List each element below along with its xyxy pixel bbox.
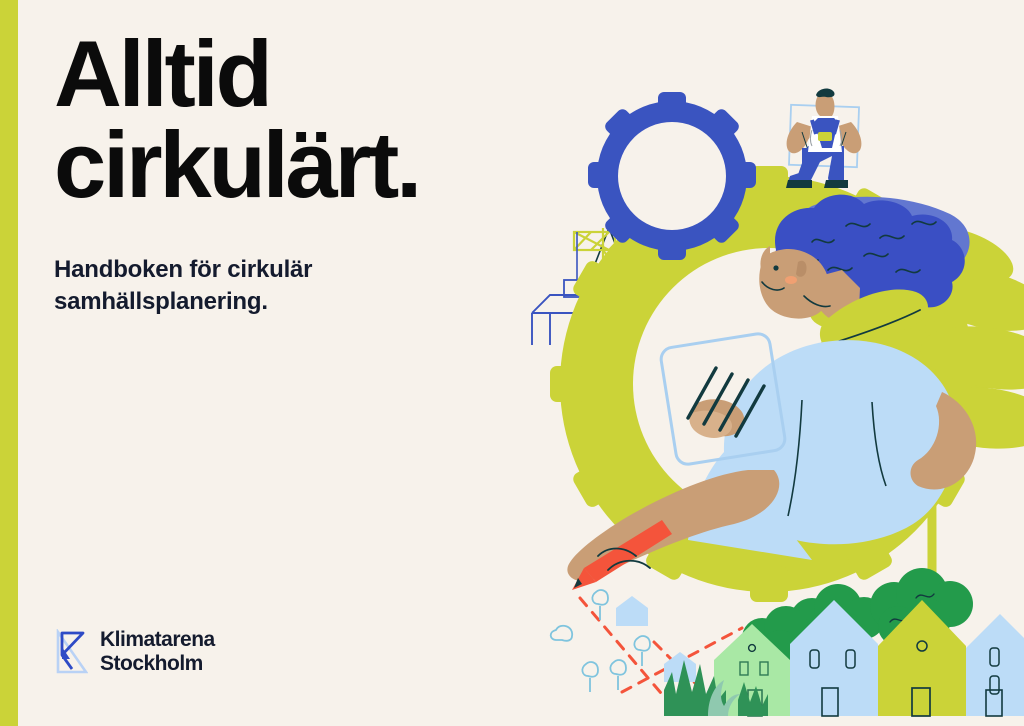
small-gear-icon <box>588 92 756 260</box>
cover-illustration <box>512 0 1024 726</box>
brand-logo: Klimatarena Stockholm <box>56 628 215 675</box>
brand-logo-wordmark: Klimatarena Stockholm <box>100 628 215 675</box>
cover-text-block: Alltid cirkulärt. Handboken för cirkulär… <box>54 28 524 318</box>
house-blue-2 <box>966 614 1024 716</box>
worker-figure <box>786 88 861 188</box>
page-title: Alltid cirkulärt. <box>54 28 524 210</box>
book-cover: Alltid cirkulärt. Handboken för cirkulär… <box>0 0 1024 726</box>
klimatarena-k-mark-icon <box>56 629 88 675</box>
accent-bar <box>0 0 18 726</box>
page-subtitle: Handboken för cirkulär samhällsplanering… <box>54 210 524 318</box>
